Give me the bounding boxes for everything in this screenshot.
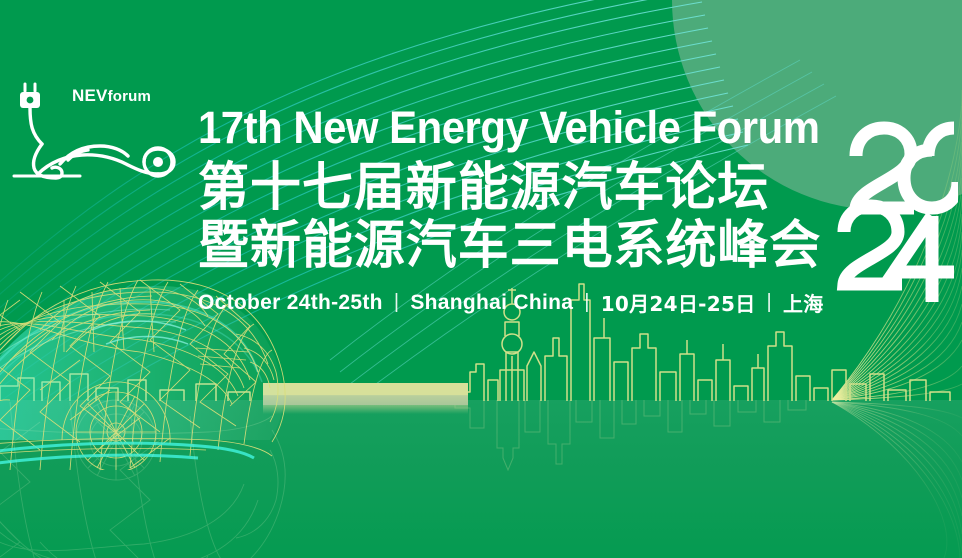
title-chinese-line1: 第十七届新能源汽车论坛 (198, 158, 825, 218)
title-english: 17th New Energy Vehicle Forum (198, 104, 793, 152)
logo-brand-light: forum (108, 88, 152, 105)
wheel-icon (144, 148, 172, 176)
logo-wordmark: NEVforum (72, 86, 151, 106)
meta-separator-3: | (767, 291, 773, 314)
headline-block: 17th New Energy Vehicle Forum 第十七届新能源汽车论… (198, 104, 838, 317)
meta-city-english: Shanghai China (410, 291, 573, 315)
pale-accent-bar-reflection (263, 405, 468, 414)
meta-separator-2: | (584, 291, 590, 314)
charging-plug-icon (20, 84, 42, 144)
meta-date-english: October 24th-25th (198, 291, 383, 315)
title-chinese-line2: 暨新能源汽车三电系统峰会 (198, 216, 825, 276)
water-reflection-band (0, 400, 962, 558)
meta-date-chinese: 10月24日-25日 (601, 288, 756, 317)
pale-accent-bar (263, 383, 468, 405)
meta-separator-1: | (394, 291, 400, 314)
logo-brand-bold: NEV (72, 86, 108, 105)
event-meta-line: October 24th-25th | Shanghai China | 10月… (198, 288, 838, 317)
meta-city-chinese: 上海 (783, 288, 824, 317)
event-poster: NEVforum 17th New Energy Vehicle Forum 第… (0, 0, 962, 558)
year-2024-graphic (836, 104, 958, 309)
